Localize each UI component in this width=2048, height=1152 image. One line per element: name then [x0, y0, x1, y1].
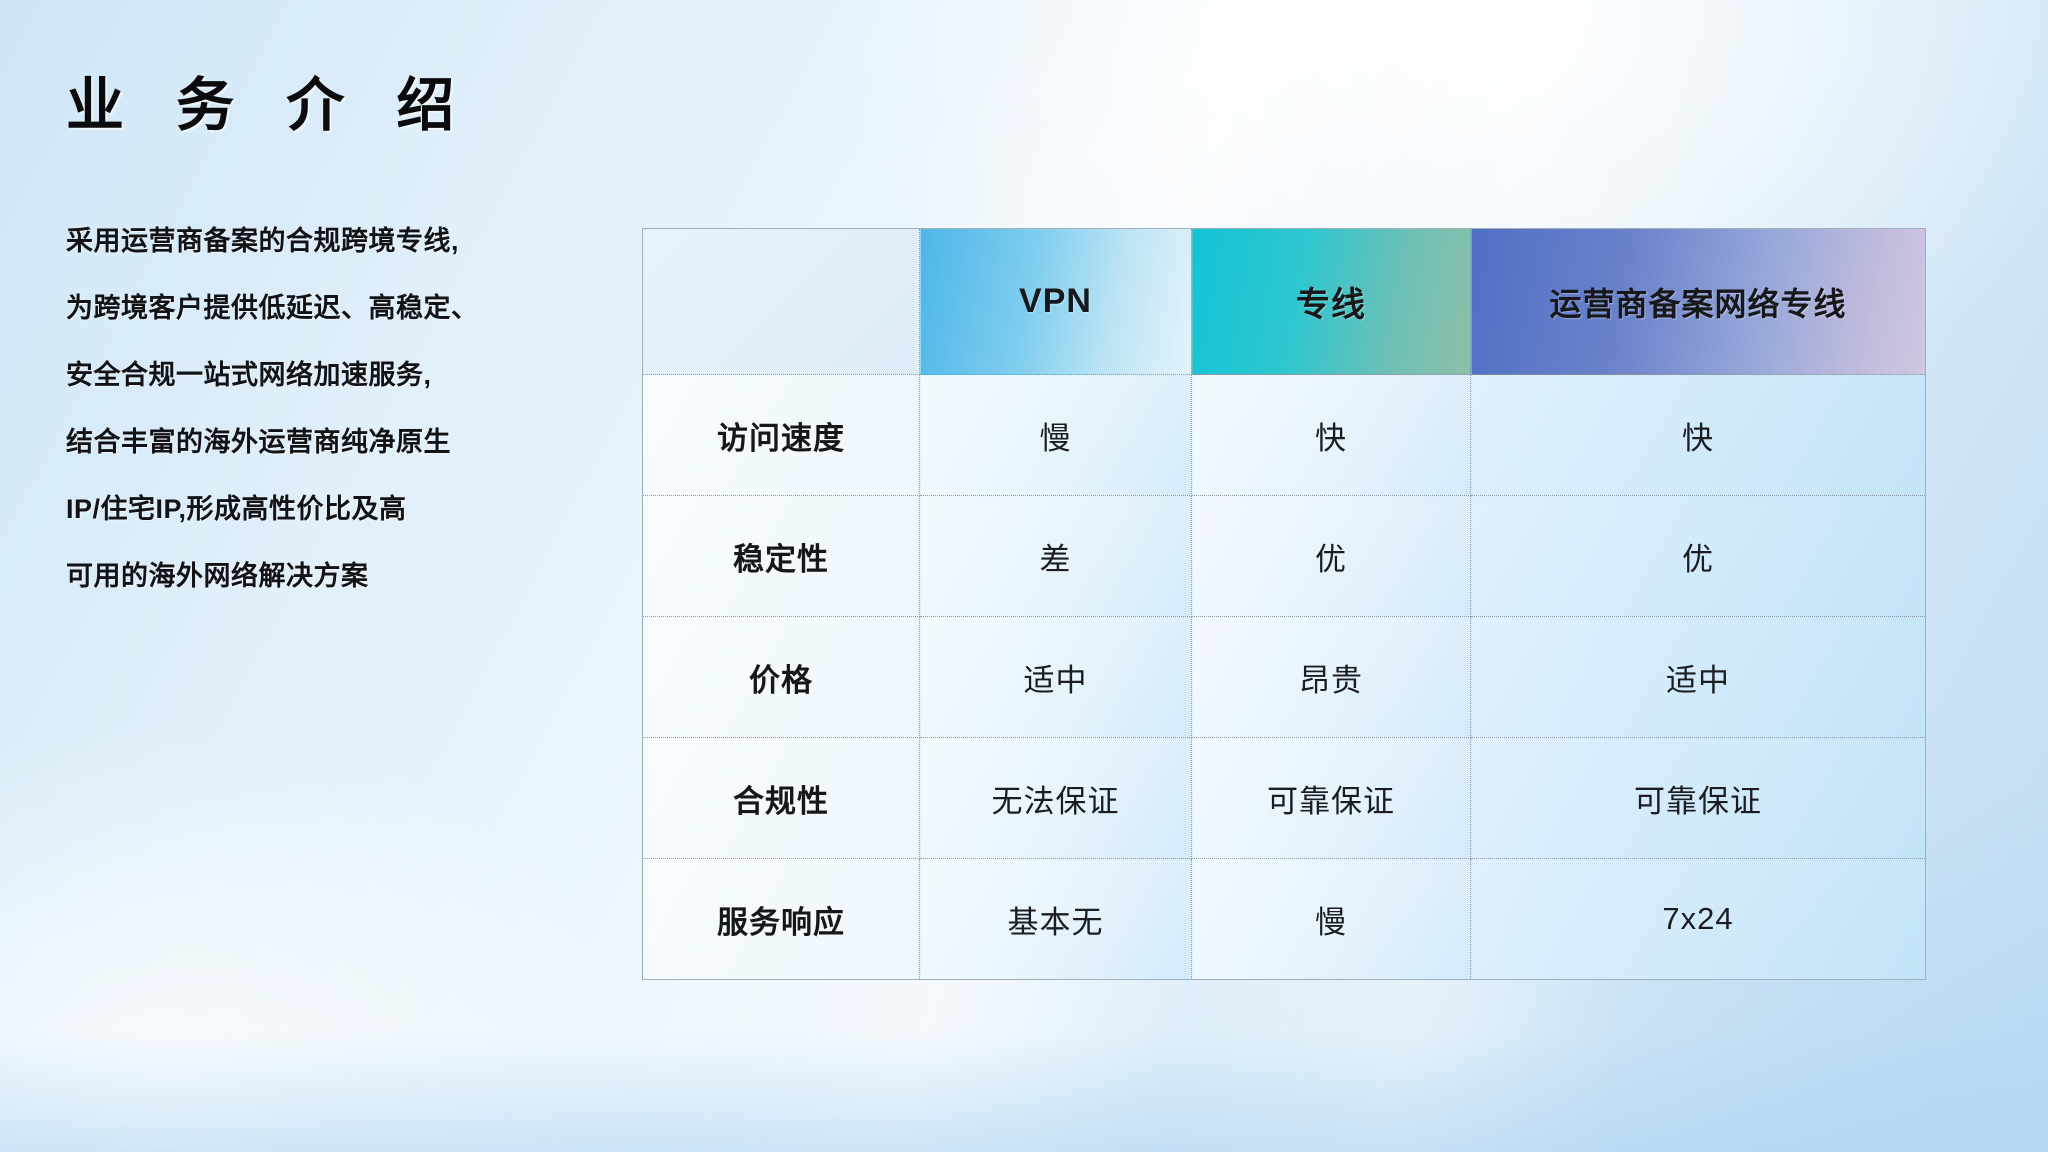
table-cell-value: 适中: [1666, 663, 1730, 698]
description-line: IP/住宅IP,形成高性价比及高: [66, 496, 626, 523]
table-cell-value: 基本无: [1008, 905, 1104, 940]
table-cell-value: 慢: [1040, 421, 1072, 456]
table-row-label-cell: 服务响应: [643, 859, 920, 980]
table-row: 服务响应 基本无 慢 7x24: [643, 859, 1926, 980]
description-line: 采用运营商备案的合规跨境专线,: [66, 228, 626, 255]
table-cell: 适中: [1471, 617, 1926, 738]
table-cell-value: 无法保证: [992, 784, 1120, 819]
table-header-label: VPN: [1019, 282, 1092, 320]
table-cell: 快: [1192, 375, 1471, 496]
table-row: 合规性 无法保证 可靠保证 可靠保证: [643, 738, 1926, 859]
table-cell: 慢: [920, 375, 1192, 496]
table-row-label-cell: 价格: [643, 617, 920, 738]
table-cell-value: 可靠保证: [1634, 784, 1762, 819]
comparison-table: VPN 专线 运营商备案网络专线 访问速度 慢 快: [642, 228, 1926, 980]
table-cell: 慢: [1192, 859, 1471, 980]
description-line: 安全合规一站式网络加速服务,: [66, 362, 626, 389]
table-header: VPN 专线 运营商备案网络专线: [643, 229, 1926, 375]
table-cell-value: 适中: [1024, 663, 1088, 698]
table-cell-value: 7x24: [1662, 901, 1733, 936]
table-row-label-cell: 访问速度: [643, 375, 920, 496]
table-row-label-cell: 稳定性: [643, 496, 920, 617]
table-cell-value: 差: [1040, 542, 1072, 577]
table-header-cell-registered-line: 运营商备案网络专线: [1471, 229, 1926, 375]
table-cell-value: 优: [1315, 542, 1347, 577]
table-header-label: 运营商备案网络专线: [1549, 286, 1846, 322]
table-cell-value: 快: [1682, 421, 1714, 456]
table-header-cell-vpn: VPN: [920, 229, 1192, 375]
table-body: 访问速度 慢 快 快 稳定性 差 优: [643, 375, 1926, 980]
table-cell: 可靠保证: [1471, 738, 1926, 859]
table-header-label: 专线: [1296, 286, 1366, 324]
table-cell-value: 优: [1682, 542, 1714, 577]
description-line: 可用的海外网络解决方案: [66, 563, 626, 590]
description-line: 为跨境客户提供低延迟、高稳定、: [66, 295, 626, 322]
table-row: 访问速度 慢 快 快: [643, 375, 1926, 496]
table-cell: 无法保证: [920, 738, 1192, 859]
table-row-label-cell: 合规性: [643, 738, 920, 859]
table-header-row: VPN 专线 运营商备案网络专线: [643, 229, 1926, 375]
table-header-cell-empty: [643, 229, 920, 375]
table-row-label: 合规性: [733, 784, 829, 819]
table-row: 稳定性 差 优 优: [643, 496, 1926, 617]
table-row-label: 访问速度: [717, 421, 845, 456]
table-cell: 昂贵: [1192, 617, 1471, 738]
table-cell-value: 可靠保证: [1267, 784, 1395, 819]
table-header-cell-dedicated-line: 专线: [1192, 229, 1471, 375]
table-cell: 基本无: [920, 859, 1192, 980]
table-cell: 差: [920, 496, 1192, 617]
table-cell: 优: [1471, 496, 1926, 617]
table-cell-value: 慢: [1315, 905, 1347, 940]
table-cell: 可靠保证: [1192, 738, 1471, 859]
slide-canvas: 业 务 介 绍 采用运营商备案的合规跨境专线, 为跨境客户提供低延迟、高稳定、 …: [0, 0, 2048, 1152]
table-cell-value: 快: [1315, 421, 1347, 456]
table-cell: 快: [1471, 375, 1926, 496]
description-line: 结合丰富的海外运营商纯净原生: [66, 429, 626, 456]
table-cell: 适中: [920, 617, 1192, 738]
table-cell: 7x24: [1471, 859, 1926, 980]
table-row-label: 服务响应: [717, 905, 845, 940]
table-cell: 优: [1192, 496, 1471, 617]
table-row-label: 价格: [749, 663, 813, 698]
table-cell-value: 昂贵: [1299, 663, 1363, 698]
table-row-label: 稳定性: [733, 542, 829, 577]
description-paragraph: 采用运营商备案的合规跨境专线, 为跨境客户提供低延迟、高稳定、 安全合规一站式网…: [66, 228, 626, 590]
page-title: 业 务 介 绍: [66, 58, 472, 142]
table-row: 价格 适中 昂贵 适中: [643, 617, 1926, 738]
